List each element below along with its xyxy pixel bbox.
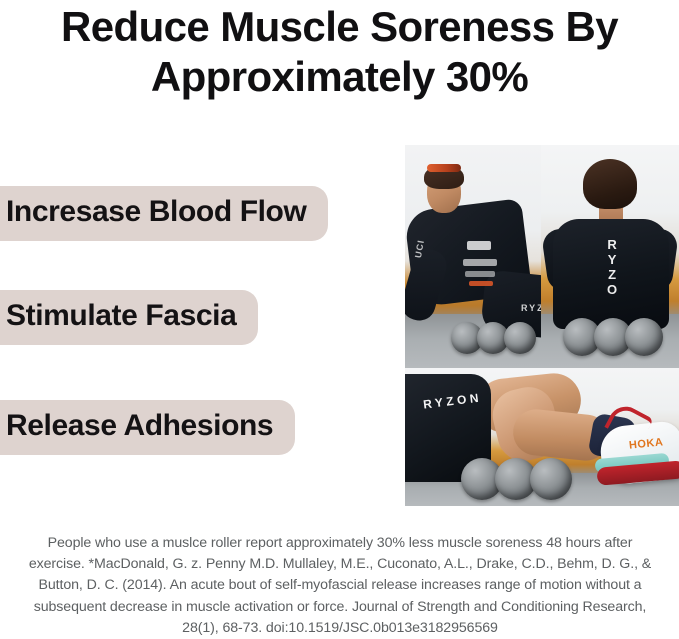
jersey-logo-accent	[469, 281, 493, 286]
photo-athlete-back-view-roll: RYZO	[541, 145, 679, 368]
photo-collage: UCI RYZ RYZO	[405, 145, 679, 506]
roller-ball	[625, 318, 663, 356]
jersey-logo-primary	[467, 241, 491, 250]
page-title-line-1: Reduce Muscle Soreness By	[0, 2, 679, 52]
shorts-brand-text: RYZ	[521, 303, 541, 313]
roller-ball	[530, 458, 572, 500]
benefit-list: Incresase Blood Flow Stimulate Fascia Re…	[0, 186, 400, 455]
sunglasses-icon	[427, 164, 461, 172]
roller-ball	[504, 322, 536, 354]
jersey-brand-text: RYZO	[607, 237, 620, 297]
benefit-pill-blood-flow: Incresase Blood Flow	[0, 186, 328, 241]
massage-roller	[461, 458, 587, 500]
massage-roller	[451, 322, 541, 354]
massage-roller	[563, 318, 677, 356]
photo-athlete-upper-back-roll: UCI RYZ	[405, 145, 541, 368]
jersey-logo-secondary	[463, 259, 497, 266]
page-title-line-2: Approximately 30%	[0, 52, 679, 102]
photo-athlete-calf-roll: RYZON HOKA	[405, 368, 679, 506]
footnote-citation: People who use a muslce roller report ap…	[18, 533, 662, 639]
page-title: Reduce Muscle Soreness By Approximately …	[0, 2, 679, 102]
product-benefits-infographic: Reduce Muscle Soreness By Approximately …	[0, 0, 679, 631]
jersey-logo-tertiary	[465, 271, 495, 277]
athlete-hair	[583, 159, 637, 209]
benefit-pill-fascia: Stimulate Fascia	[0, 290, 258, 345]
benefit-pill-adhesions: Release Adhesions	[0, 400, 295, 455]
